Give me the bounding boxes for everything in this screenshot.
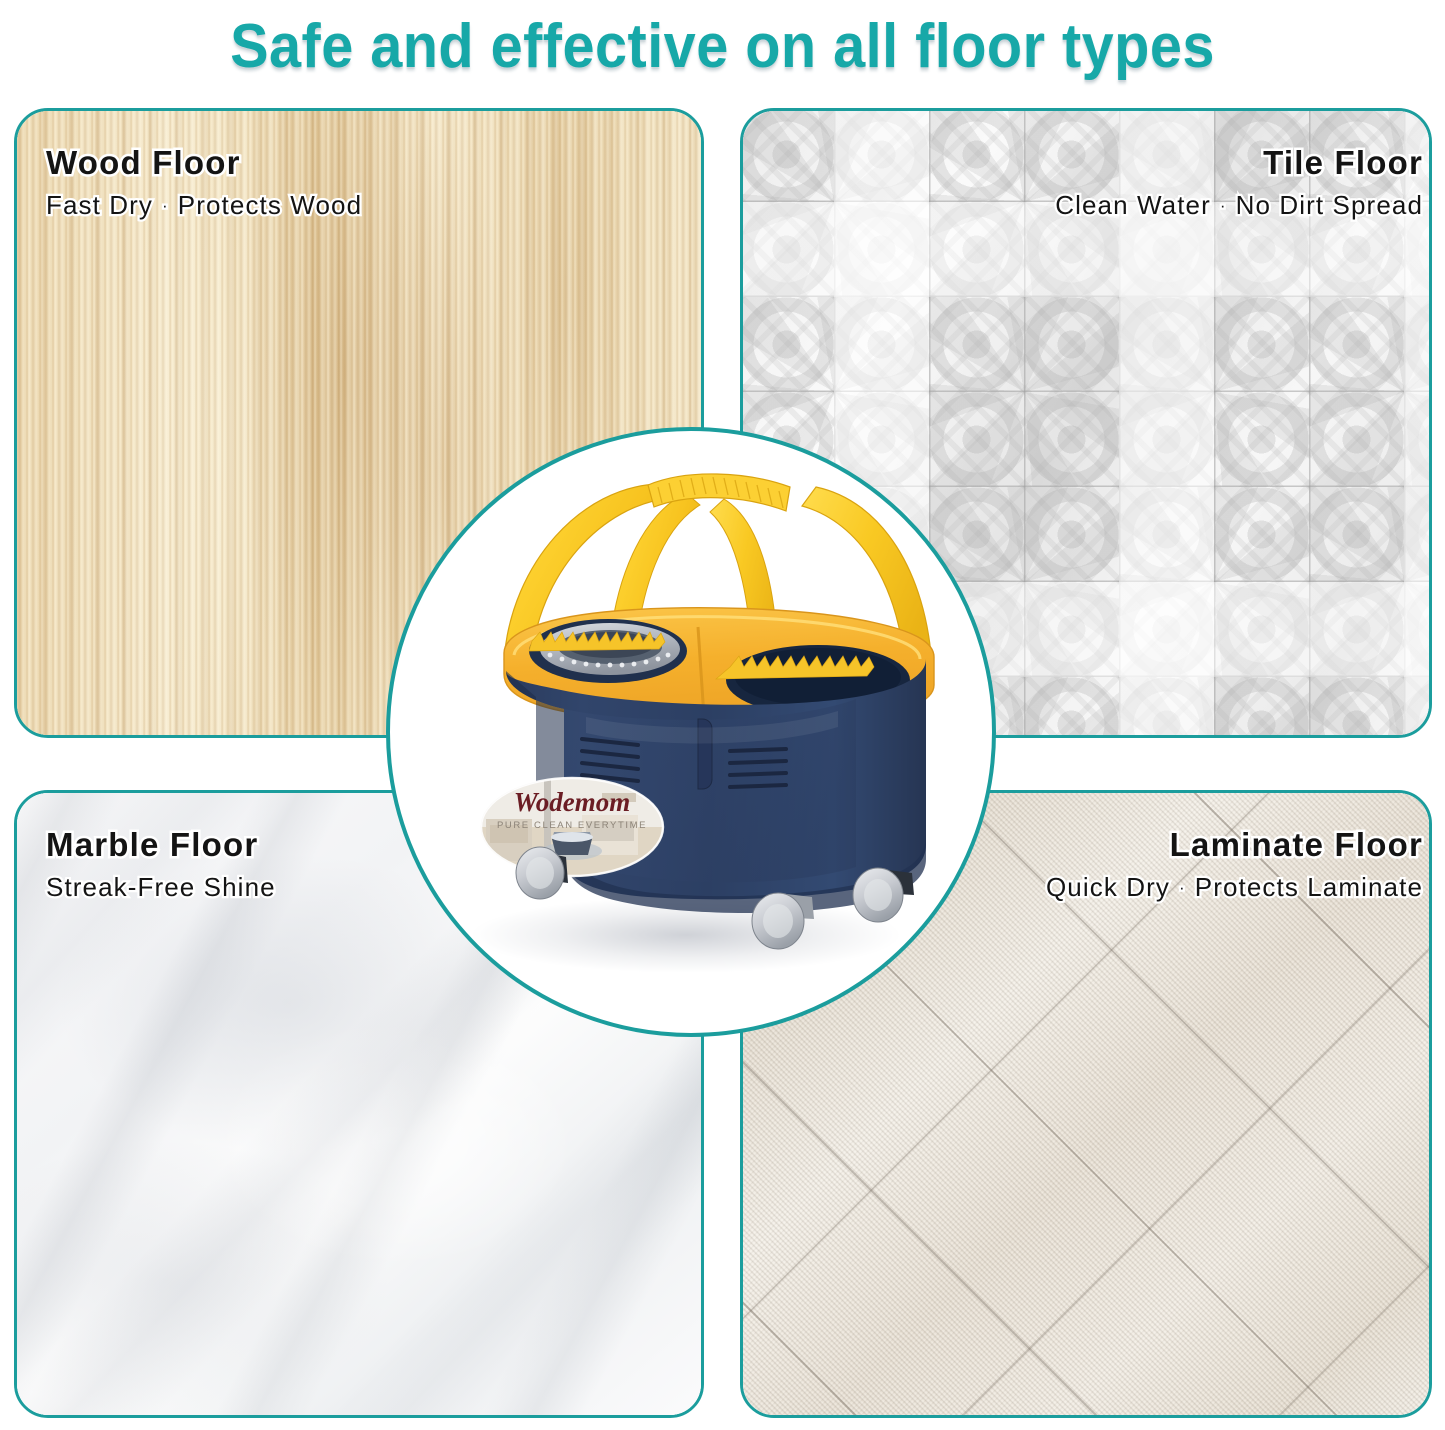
laminate-benefit-right: Protects Laminate [1195, 872, 1423, 902]
marble-floor-benefits: Streak-Free Shine [46, 874, 276, 901]
marble-floor-title: Marble Floor [46, 828, 276, 862]
tile-benefit-right: No Dirt Spread [1236, 190, 1423, 220]
caster-wheel-back-right [853, 868, 914, 922]
caption-laminate-floor: Laminate Floor Quick Dry·Protects Lamina… [1046, 828, 1423, 900]
page-title: Safe and effective on all floor types [230, 11, 1215, 82]
marble-benefit-left: Streak-Free Shine [46, 872, 276, 902]
headline-banner: Safe and effective on all floor types [0, 0, 1445, 92]
wood-floor-benefits: Fast Dry·Protects Wood [46, 192, 362, 219]
laminate-floor-title: Laminate Floor [1046, 828, 1423, 862]
brand-tagline: PURE CLEAN EVERYTIME [497, 820, 647, 831]
tile-floor-benefits: Clean Water·No Dirt Spread [1055, 192, 1423, 219]
caption-tile-floor: Tile Floor Clean Water·No Dirt Spread [1055, 146, 1423, 218]
caption-marble-floor: Marble Floor Streak-Free Shine [46, 828, 276, 900]
wood-benefit-right: Protects Wood [178, 190, 362, 220]
product-illustration: Wodemom PURE CLEAN EVERYTIME [386, 427, 996, 1037]
caption-wood-floor: Wood Floor Fast Dry·Protects Wood [46, 146, 362, 218]
laminate-benefit-left: Quick Dry [1046, 872, 1170, 902]
tile-floor-title: Tile Floor [1055, 146, 1423, 180]
brand-label: Wodemom PURE CLEAN EVERYTIME [481, 778, 663, 876]
spinner-compartment [529, 619, 687, 683]
laminate-floor-benefits: Quick Dry·Protects Laminate [1046, 874, 1423, 901]
wood-benefit-separator: · [153, 196, 178, 215]
laminate-benefit-separator: · [1170, 878, 1195, 897]
tile-benefit-left: Clean Water [1055, 190, 1211, 220]
product-hero: Wodemom PURE CLEAN EVERYTIME [386, 427, 996, 1037]
brand-name: Wodemom [514, 787, 631, 817]
wood-benefit-left: Fast Dry [46, 190, 153, 220]
wood-floor-title: Wood Floor [46, 146, 362, 180]
tile-benefit-separator: · [1211, 196, 1236, 215]
